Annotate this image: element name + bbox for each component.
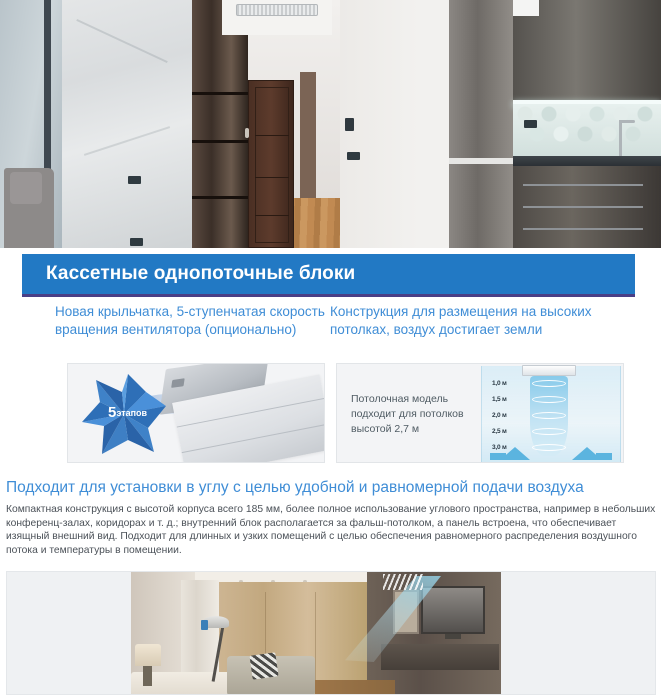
wall-switch — [130, 238, 143, 246]
wardrobe-doors — [192, 0, 248, 248]
patterned-cushion — [249, 652, 278, 679]
ceiling-air-vent — [236, 4, 318, 16]
height-label: 2,5 м — [492, 428, 507, 435]
ceiling-cassette-unit — [522, 365, 576, 376]
wall-control-panel — [201, 620, 208, 630]
ceiling-caption: Потолочная модель подходит для потолков … — [351, 392, 471, 437]
door-handle — [245, 128, 249, 138]
console-table — [381, 644, 499, 670]
entry-door — [248, 80, 294, 248]
page-title: Кассетные однопоточные блоки — [22, 263, 355, 285]
wall-switch — [128, 176, 141, 184]
height-tick — [532, 428, 566, 435]
kitchen-interior-photo — [419, 0, 661, 248]
wall-switch — [347, 152, 360, 160]
feature-fan-speed: Новая крыльчатка, 5-ступенчатая скорость… — [55, 303, 330, 338]
ceiling-height-airflow-diagram: Потолочная модель подходит для потолков … — [336, 363, 624, 463]
description-block: Подходит для установки в углу с целью уд… — [6, 478, 656, 557]
feature-heading: Конструкция для размещения на высоких по… — [330, 303, 630, 338]
wall-switch — [524, 120, 537, 128]
tv-stand — [445, 634, 461, 639]
table-lamp-base — [143, 666, 152, 686]
control-panel — [345, 118, 354, 131]
top-photo-strip — [0, 0, 661, 248]
height-label: 1,5 м — [492, 396, 507, 403]
feature-columns: Новая крыльчатка, 5-ступенчатая скорость… — [0, 303, 661, 471]
height-tick — [532, 412, 566, 419]
section-title-banner: Кассетные однопоточные блоки — [22, 254, 635, 294]
height-tick — [532, 396, 566, 403]
countertop — [513, 156, 661, 166]
fan-stage-badge: 5этапов — [108, 404, 147, 421]
floor-airflow-arrow — [500, 447, 530, 460]
height-tick — [532, 380, 566, 387]
sink-faucet — [619, 120, 622, 158]
description-body: Компактная конструкция с высотой корпуса… — [6, 503, 656, 557]
pillow-shape — [10, 172, 42, 204]
bottom-photo-frame — [6, 571, 656, 695]
badge-label: этапов — [116, 408, 147, 418]
bedroom-floor — [315, 680, 395, 695]
wall-television — [421, 586, 485, 634]
feature-heading: Новая крыльчатка, 5-ступенчатая скорость… — [55, 303, 330, 338]
cabinet-trim — [449, 158, 513, 164]
pinwheel-icon: 5этапов — [78, 370, 170, 458]
hallway-interior-photo — [0, 0, 419, 248]
room-volume-box: 1,0 м 1,5 м 2,0 м 2,5 м 3,0 м — [481, 366, 621, 462]
height-label: 2,0 м — [492, 412, 507, 419]
bedroom-airflow-photo — [131, 572, 501, 695]
hexagon-backsplash — [513, 104, 661, 156]
airflow-streak-lines — [383, 574, 423, 590]
height-label: 1,0 м — [492, 380, 507, 387]
product-brochure-page: Кассетные однопоточные блоки Новая крыль… — [0, 0, 661, 700]
description-heading: Подходит для установки в углу с целью уд… — [6, 478, 656, 498]
feature-ceiling-height: Конструкция для размещения на высоких по… — [330, 303, 630, 338]
height-tick — [532, 444, 566, 451]
lower-cabinets — [513, 166, 661, 248]
fan-impeller-diagram: 5этапов — [67, 363, 325, 463]
floor-airflow-arrow — [572, 447, 602, 460]
kitchen-side-wall — [419, 0, 449, 248]
table-lamp-shade — [135, 644, 161, 666]
marble-wall — [62, 0, 192, 248]
tall-cabinet-column — [449, 0, 513, 248]
banner-underline — [22, 294, 635, 297]
